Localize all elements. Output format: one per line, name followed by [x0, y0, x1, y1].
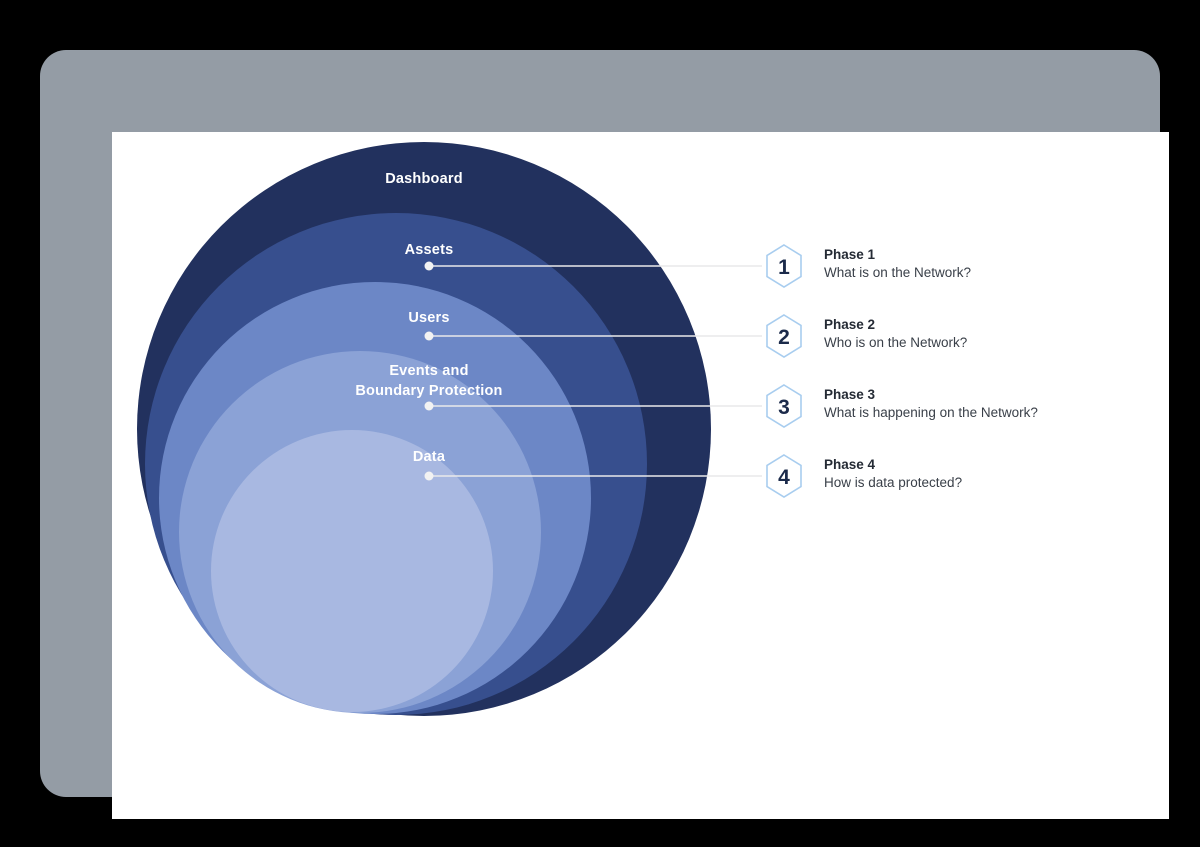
hexagon-number-3: 3 [778, 396, 790, 419]
phase-description-4: How is data protected? [824, 475, 962, 490]
leader-dot-phase-1 [425, 262, 434, 271]
leader-dot-phase-2 [425, 332, 434, 341]
ring-label-assets: Assets [405, 242, 454, 258]
phase-title-4: Phase 4 [824, 457, 876, 472]
phase-description-3: What is happening on the Network? [824, 405, 1038, 420]
ring-data[interactable] [211, 430, 493, 712]
phase-title-2: Phase 2 [824, 317, 875, 332]
ring-label-boundary-protection: Boundary Protection [355, 383, 502, 399]
hexagon-number-4: 4 [778, 466, 790, 489]
leader-dot-phase-3 [425, 402, 434, 411]
phase-description-2: Who is on the Network? [824, 335, 967, 350]
ring-label-events: Events and [389, 363, 468, 379]
ring-label-data: Data [413, 449, 446, 465]
hexagon-number-2: 2 [778, 326, 790, 349]
leader-dot-phase-4 [425, 472, 434, 481]
ring-label-dashboard: Dashboard [385, 171, 463, 187]
phase-title-3: Phase 3 [824, 387, 876, 402]
ring-group [137, 142, 711, 716]
ring-label-users: Users [408, 310, 449, 326]
phase-description-1: What is on the Network? [824, 265, 971, 280]
phase-title-1: Phase 1 [824, 247, 876, 262]
hexagon-number-1: 1 [778, 256, 790, 279]
